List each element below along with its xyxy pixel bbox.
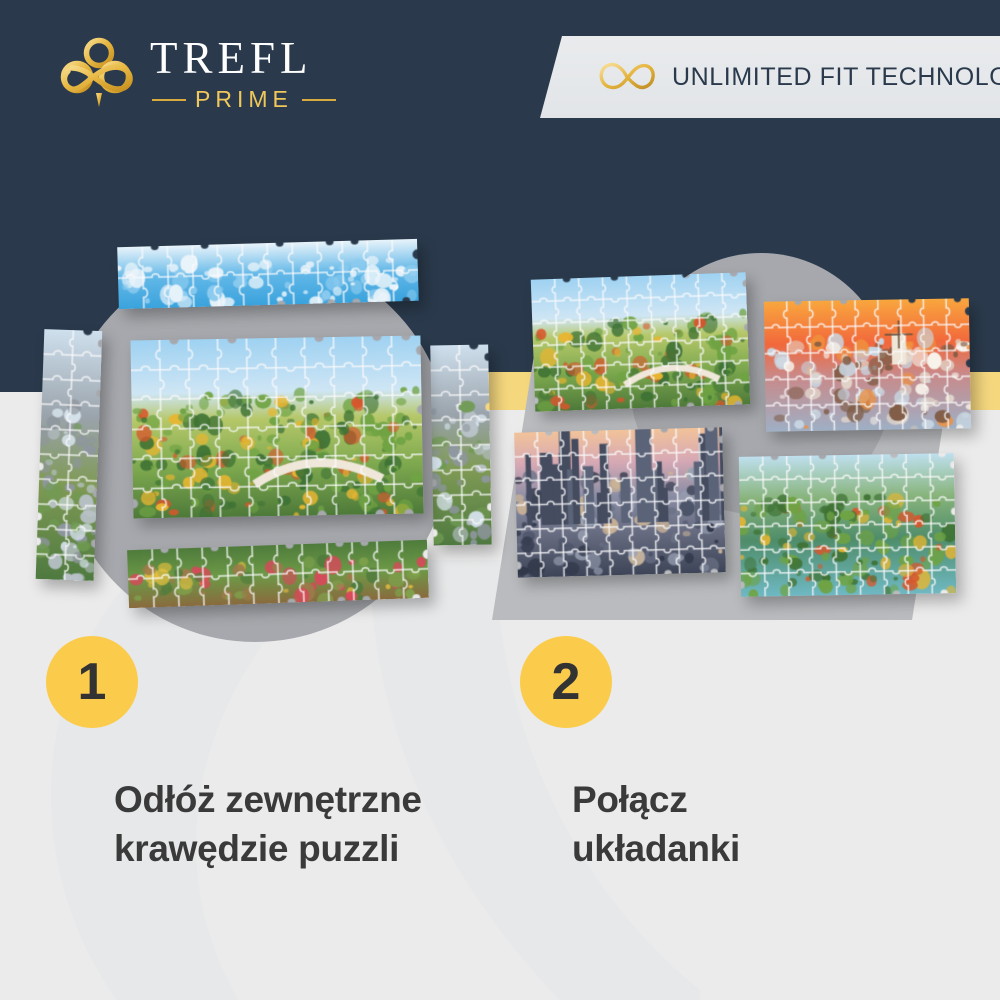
puzzle-block-mountain-lake bbox=[739, 453, 956, 597]
puzzle-edge-strip-bottom bbox=[127, 540, 429, 608]
puzzle-block-central-park bbox=[531, 272, 750, 411]
unlimited-fit-technology-banner: UNLIMITED FIT TECHNOLOGY® bbox=[540, 36, 1000, 118]
promo-canvas: TREFL PRIME bbox=[0, 0, 1000, 1000]
puzzle-edge-strip-right bbox=[430, 345, 491, 546]
step-1: 1 Odłóż zewnętrzne krawędzie puzzli bbox=[46, 636, 422, 874]
step-2-caption: Połącz układanki bbox=[572, 776, 740, 874]
brand-name: TREFL bbox=[150, 36, 336, 81]
puzzle-block-santorini bbox=[764, 298, 971, 432]
banner-label: UNLIMITED FIT TECHNOLOGY® bbox=[672, 63, 1000, 92]
prime-rule-left bbox=[152, 99, 186, 101]
step-2: 2 Połącz układanki bbox=[520, 636, 740, 874]
trefl-clover-infinity-icon bbox=[58, 37, 136, 111]
step-1-caption: Odłóż zewnętrzne krawędzie puzzli bbox=[114, 776, 422, 874]
puzzle-main-central-park bbox=[130, 335, 423, 518]
brand-subtitle: PRIME bbox=[195, 88, 293, 111]
banner-label-text: UNLIMITED FIT TECHNOLOGY bbox=[672, 63, 1000, 91]
infinity-icon bbox=[598, 60, 656, 94]
puzzle-edge-strip-left bbox=[36, 329, 103, 581]
puzzle-block-new-york bbox=[514, 427, 726, 577]
prime-rule-right bbox=[302, 99, 336, 101]
step-2-number-badge: 2 bbox=[520, 636, 612, 728]
puzzle-edge-strip-top bbox=[117, 239, 419, 309]
step-1-number-badge: 1 bbox=[46, 636, 138, 728]
brand-logo: TREFL PRIME bbox=[58, 36, 336, 111]
